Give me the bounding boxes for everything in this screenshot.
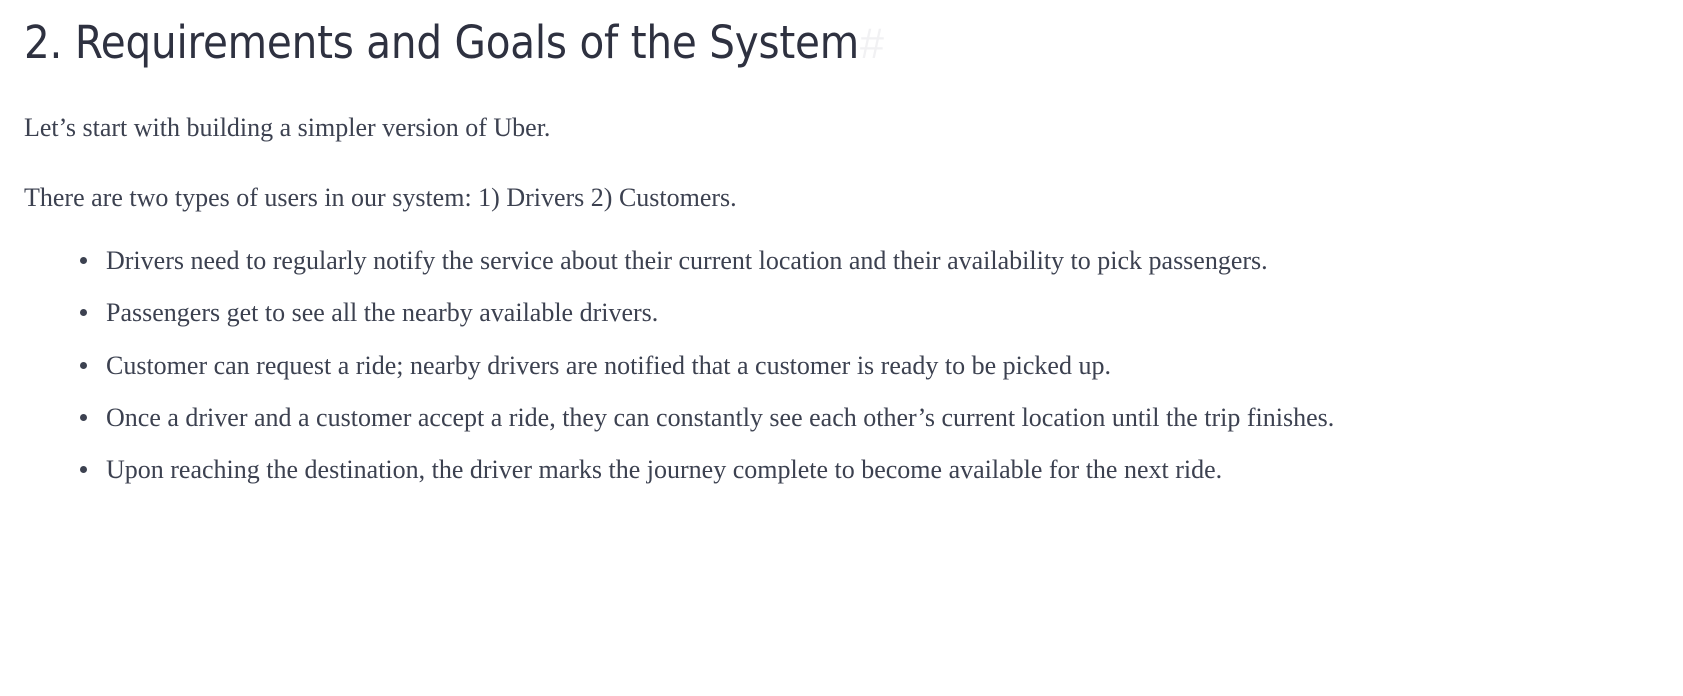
document-content: 2. Requirements and Goals of the System#… [0,0,1400,491]
intro-paragraph-2: There are two types of users in our syst… [24,178,1400,218]
intro-paragraph-1: Let’s start with building a simpler vers… [24,108,1400,148]
requirements-list: Drivers need to regularly notify the ser… [24,240,1370,491]
list-item: Customer can request a ride; nearby driv… [80,345,1370,387]
page-title: 2. Requirements and Goals of the System# [24,0,1400,70]
document-page: 2. Requirements and Goals of the System#… [0,0,1683,696]
list-item: Passengers get to see all the nearby ava… [80,292,1370,334]
list-item: Once a driver and a customer accept a ri… [80,397,1370,439]
section-heading-text: 2. Requirements and Goals of the System [24,16,859,69]
list-item: Drivers need to regularly notify the ser… [80,240,1370,282]
anchor-link-icon[interactable]: # [860,20,884,68]
list-item: Upon reaching the destination, the drive… [80,449,1370,491]
